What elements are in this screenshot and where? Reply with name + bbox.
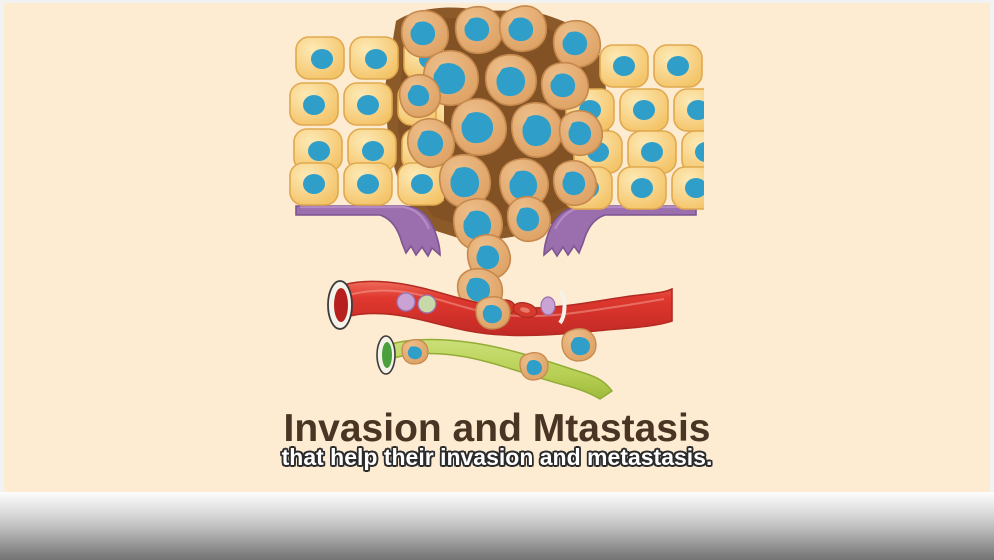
slide-title: Invasion and Mtastasis	[4, 407, 990, 451]
video-player: Invasion and Mtastasis that help their i…	[0, 0, 994, 560]
lymphatic-vessel	[377, 329, 612, 399]
player-controls-bar: 1:17 / 3:12	[0, 492, 994, 560]
video-stage[interactable]: Invasion and Mtastasis that help their i…	[4, 3, 990, 492]
